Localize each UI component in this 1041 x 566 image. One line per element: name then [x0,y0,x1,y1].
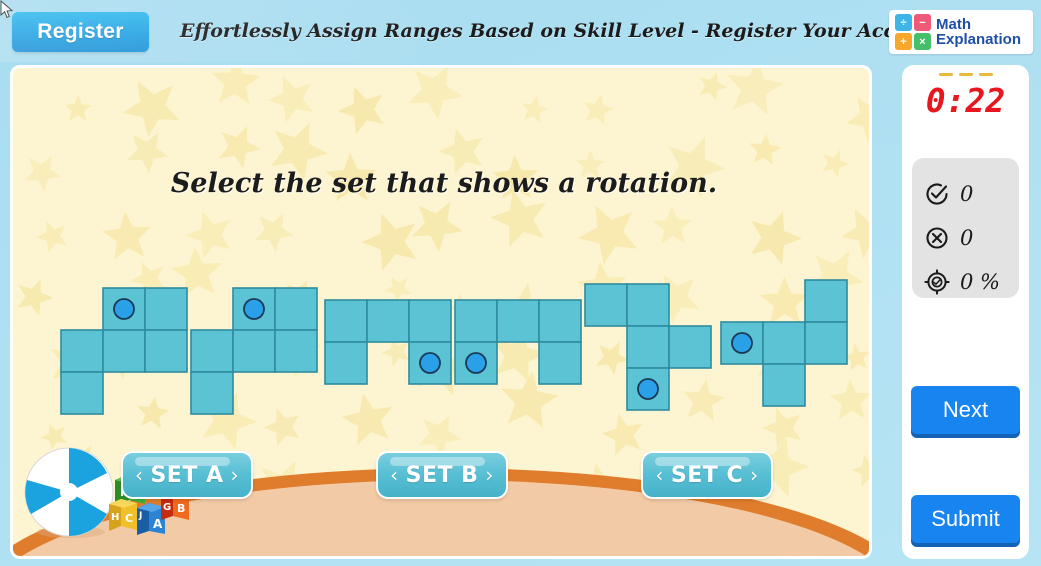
shape-cell [275,330,317,372]
set-b-label: SET B [406,463,479,488]
submit-button[interactable]: Submit [911,495,1020,543]
svg-text:G: G [163,502,171,513]
shape-cell [325,342,367,384]
next-button[interactable]: Next [911,386,1020,434]
shape-cell [585,284,627,326]
shape-cell [367,300,409,342]
svg-text:C: C [125,512,133,525]
shape-set-3-figure-2[interactable] [721,280,847,406]
orientation-marker-icon [420,353,440,373]
countdown-timer: 0:22 [902,81,1029,120]
logo-quadrant-minus-icon: − [914,14,931,31]
star-shape [338,86,384,134]
shape-cell [191,330,233,372]
block-yellow: H C [109,499,137,531]
shape-cell [539,342,581,384]
timer-dashes-decoration [902,73,1029,76]
shape-cell [145,330,187,372]
shape-cell [805,322,847,364]
orientation-marker-icon [466,353,486,373]
stat-incorrect: 0 [924,216,1019,260]
math-explanation-logo[interactable]: ÷ − + × Math Explanation [889,10,1033,54]
shape-cell [763,322,805,364]
star-shape [64,95,91,121]
shape-set-2-figure-2[interactable] [455,300,581,384]
cross-circle-icon [924,225,950,251]
set-a-button[interactable]: ‹ SET A › [121,451,253,499]
shape-set-2-figure-1[interactable] [325,300,451,384]
block-blue: J A [137,503,165,535]
set-b-chevron-right-icon: › [485,463,494,487]
top-banner: Register Effortlessly Assign Ranges Base… [0,0,1041,62]
star-shape [727,68,783,115]
set-a-chevron-left-icon: ‹ [135,463,144,487]
mouse-cursor-icon [0,0,14,20]
set-b-chevron-left-icon: ‹ [390,463,399,487]
logo-mark-icon: ÷ − + × [895,14,931,50]
shape-cell [805,280,847,322]
timer-dash [979,73,993,76]
star-shape [268,76,313,123]
star-shape [122,81,179,138]
side-panel: 0:22 0 0 0 % Next Submit [902,65,1029,559]
shape-cell [103,330,145,372]
orientation-marker-icon [732,333,752,353]
logo-wordmark: Math Explanation [936,17,1021,47]
stat-accuracy: 0 % [924,260,1019,304]
shape-cell [627,326,669,368]
stat-accuracy-value: 0 % [960,270,1000,294]
orientation-marker-icon [244,299,264,319]
set-c-label: SET C [671,463,743,488]
shape-cell [275,288,317,330]
star-shape [846,97,869,143]
set-a-chevron-right-icon: › [231,463,240,487]
shape-cell [669,326,711,368]
star-shape [522,96,548,123]
logo-line-2: Explanation [936,32,1021,47]
promo-text: Effortlessly Assign Ranges Based on Skil… [180,20,870,42]
target-icon [924,269,950,295]
logo-quadrant-divide-icon: ÷ [895,14,912,31]
shape-cell [539,300,581,342]
shape-cell [233,330,275,372]
set-a-label: SET A [150,463,223,488]
timer-dash [939,73,953,76]
logo-line-1: Math [936,17,1021,32]
svg-text:J: J [138,511,142,521]
question-prompt: Select the set that shows a rotation. [13,168,872,199]
star-shape [584,94,615,125]
register-button[interactable]: Register [12,12,149,52]
shape-cell [627,284,669,326]
svg-text:H: H [111,512,119,523]
set-c-button[interactable]: ‹ SET C › [641,451,773,499]
logo-quadrant-plus-icon: + [895,33,912,50]
shape-cell [409,300,451,342]
orientation-marker-icon [114,299,134,319]
star-shape [219,126,261,169]
stat-incorrect-value: 0 [960,226,973,250]
star-shape [211,68,260,104]
timer-dash [959,73,973,76]
star-shape [408,68,463,120]
stat-correct-value: 0 [960,182,973,206]
set-c-chevron-right-icon: › [750,463,759,487]
score-stats-panel: 0 0 0 % [912,158,1019,298]
check-circle-icon [924,181,950,207]
shape-cell [61,330,103,372]
shape-set-3-figure-1[interactable] [585,284,711,410]
activity-stage: Select the set that shows a rotation. F … [10,65,872,559]
set-c-chevron-left-icon: ‹ [655,463,664,487]
shape-cell [497,300,539,342]
logo-quadrant-times-icon: × [914,33,931,50]
star-shape [750,134,782,165]
stat-correct: 0 [924,172,1019,216]
beach-ball-icon [23,446,115,538]
shape-cell [455,300,497,342]
shape-cell [325,300,367,342]
svg-text:B: B [177,502,185,515]
set-b-button[interactable]: ‹ SET B › [376,451,508,499]
shape-cell [145,288,187,330]
star-shape [699,72,727,101]
